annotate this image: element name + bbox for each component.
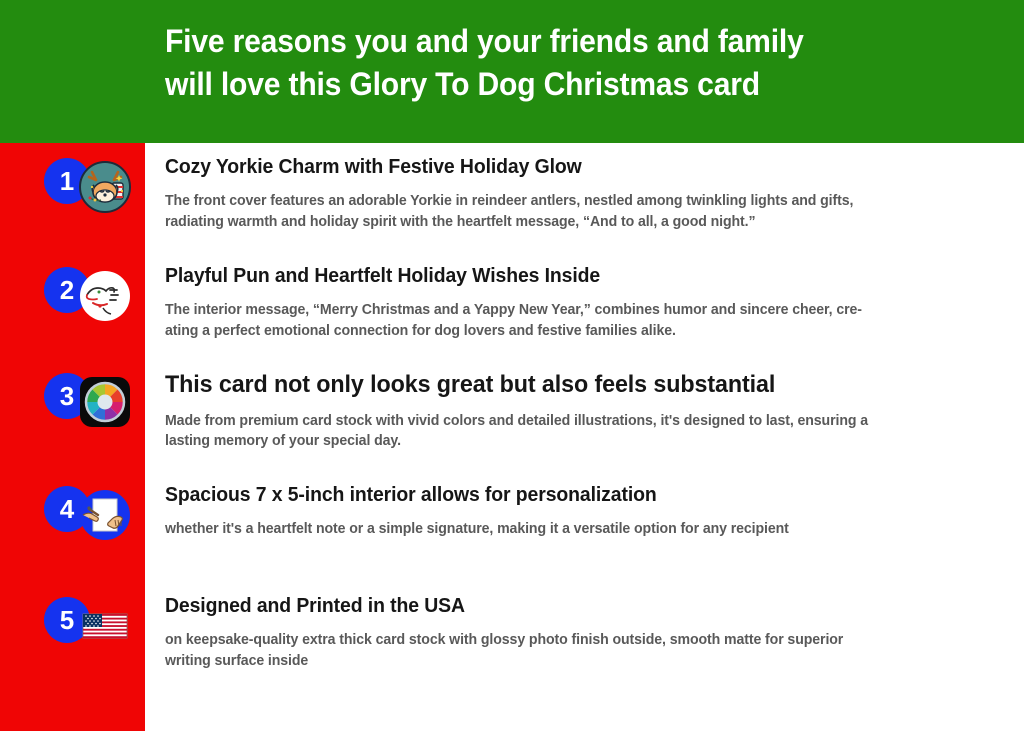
header-banner: Five reasons you and your friends and fa…	[0, 0, 1024, 143]
reason-text-block: Cozy Yorkie Charm with Festive Holiday G…	[165, 156, 1003, 232]
infographic-root: Five reasons you and your friends and fa…	[0, 0, 1024, 731]
reason-text-block: Playful Pun and Heartfelt Holiday Wishes…	[165, 265, 1003, 341]
reason-marker: 5	[0, 595, 145, 659]
reason-body: on keepsake-quality extra thick card sto…	[165, 630, 982, 671]
reindeer-dog-icon	[79, 161, 131, 213]
reason-text-block: This card not only looks great but also …	[165, 371, 1003, 452]
reason-marker: 1	[0, 156, 145, 220]
writing-hand-icon	[79, 489, 131, 541]
reason-text-block: Spacious 7 x 5-inch interior allows for …	[165, 484, 1003, 540]
reason-heading: Playful Pun and Heartfelt Holiday Wishes…	[165, 265, 978, 288]
reason-body: Made from premium card stock with vivid …	[165, 411, 982, 452]
reason-heading: Cozy Yorkie Charm with Festive Holiday G…	[165, 156, 978, 179]
reason-heading: Designed and Printed in the USA	[165, 595, 978, 618]
reason-marker: 3	[0, 371, 145, 435]
reason-heading: This card not only looks great but also …	[165, 371, 978, 399]
reason-text-block: Designed and Printed in the USAon keepsa…	[165, 595, 1003, 671]
usa-flag-icon	[79, 600, 131, 652]
reason-body: The interior message, “Merry Christmas a…	[165, 300, 982, 341]
page-title: Five reasons you and your friends and fa…	[165, 20, 936, 106]
reason-body: whether it's a heartfelt note or a simpl…	[165, 519, 982, 540]
reason-body: The front cover features an adorable Yor…	[165, 191, 982, 232]
barking-dog-icon	[79, 270, 131, 322]
reason-heading: Spacious 7 x 5-inch interior allows for …	[165, 484, 978, 507]
reason-marker: 4	[0, 484, 145, 548]
reason-list: 1Cozy Yorkie Charm with Festive Holiday …	[0, 143, 1024, 731]
reason-marker: 2	[0, 265, 145, 329]
color-aperture-icon	[79, 376, 131, 428]
